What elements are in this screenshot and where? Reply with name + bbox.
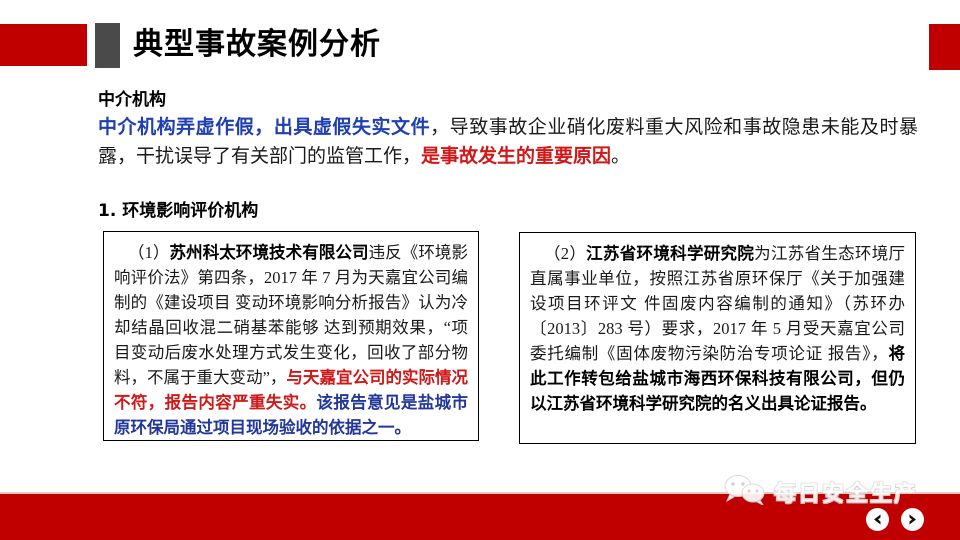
intro-emphasis-red: 是事故发生的重要原因: [421, 145, 611, 167]
header-red-block-left: [0, 24, 87, 66]
slide-navigation: [866, 508, 924, 531]
case-1-body: 违反《环境影响评价法》第四条，2017 年 7 月为天嘉宜公司编制的《建设项目 …: [114, 243, 468, 387]
case-box-1: （1）苏州科太环境技术有限公司违反《环境影响评价法》第四条，2017 年 7 月…: [103, 231, 479, 441]
intro-period: 。: [611, 146, 630, 167]
case-2-organization: 江苏省环境科学研究院: [586, 244, 754, 263]
arrow-right-icon: [906, 513, 919, 526]
intro-section: 中介机构 中介机构弄虚作假，出具虚假失实文件，导致事故企业硝化废料重大风险和事故…: [98, 88, 918, 171]
intro-heading: 中介机构: [98, 88, 918, 113]
case-1-text: （1）苏州科太环境技术有限公司违反《环境影响评价法》第四条，2017 年 7 月…: [114, 240, 468, 440]
page-title: 典型事故案例分析: [133, 23, 381, 67]
prev-slide-button[interactable]: [866, 508, 889, 531]
case-1-organization: 苏州科太环境技术有限公司: [170, 243, 369, 262]
next-slide-button[interactable]: [901, 508, 924, 531]
section-heading: 1. 环境影响评价机构: [98, 196, 258, 221]
case-2-text: （2）江苏省环境科学研究院为江苏省生态环境厅直属事业单位，按照江苏省原环保厅《关…: [530, 241, 905, 416]
intro-emphasis-blue: 中介机构弄虚作假，出具虚假失实文件: [98, 116, 430, 138]
header-red-block-right: [929, 24, 960, 70]
bottom-red-band: [0, 494, 960, 540]
case-2-number: （2）: [530, 244, 586, 263]
case-1-number: （1）: [114, 243, 170, 262]
case-box-2: （2）江苏省环境科学研究院为江苏省生态环境厅直属事业单位，按照江苏省原环保厅《关…: [519, 232, 916, 444]
arrow-left-icon: [871, 513, 884, 526]
intro-paragraph: 中介机构弄虚作假，出具虚假失实文件，导致事故企业硝化废料重大风险和事故隐患未能及…: [98, 113, 918, 171]
header-gray-tab: [95, 23, 120, 68]
